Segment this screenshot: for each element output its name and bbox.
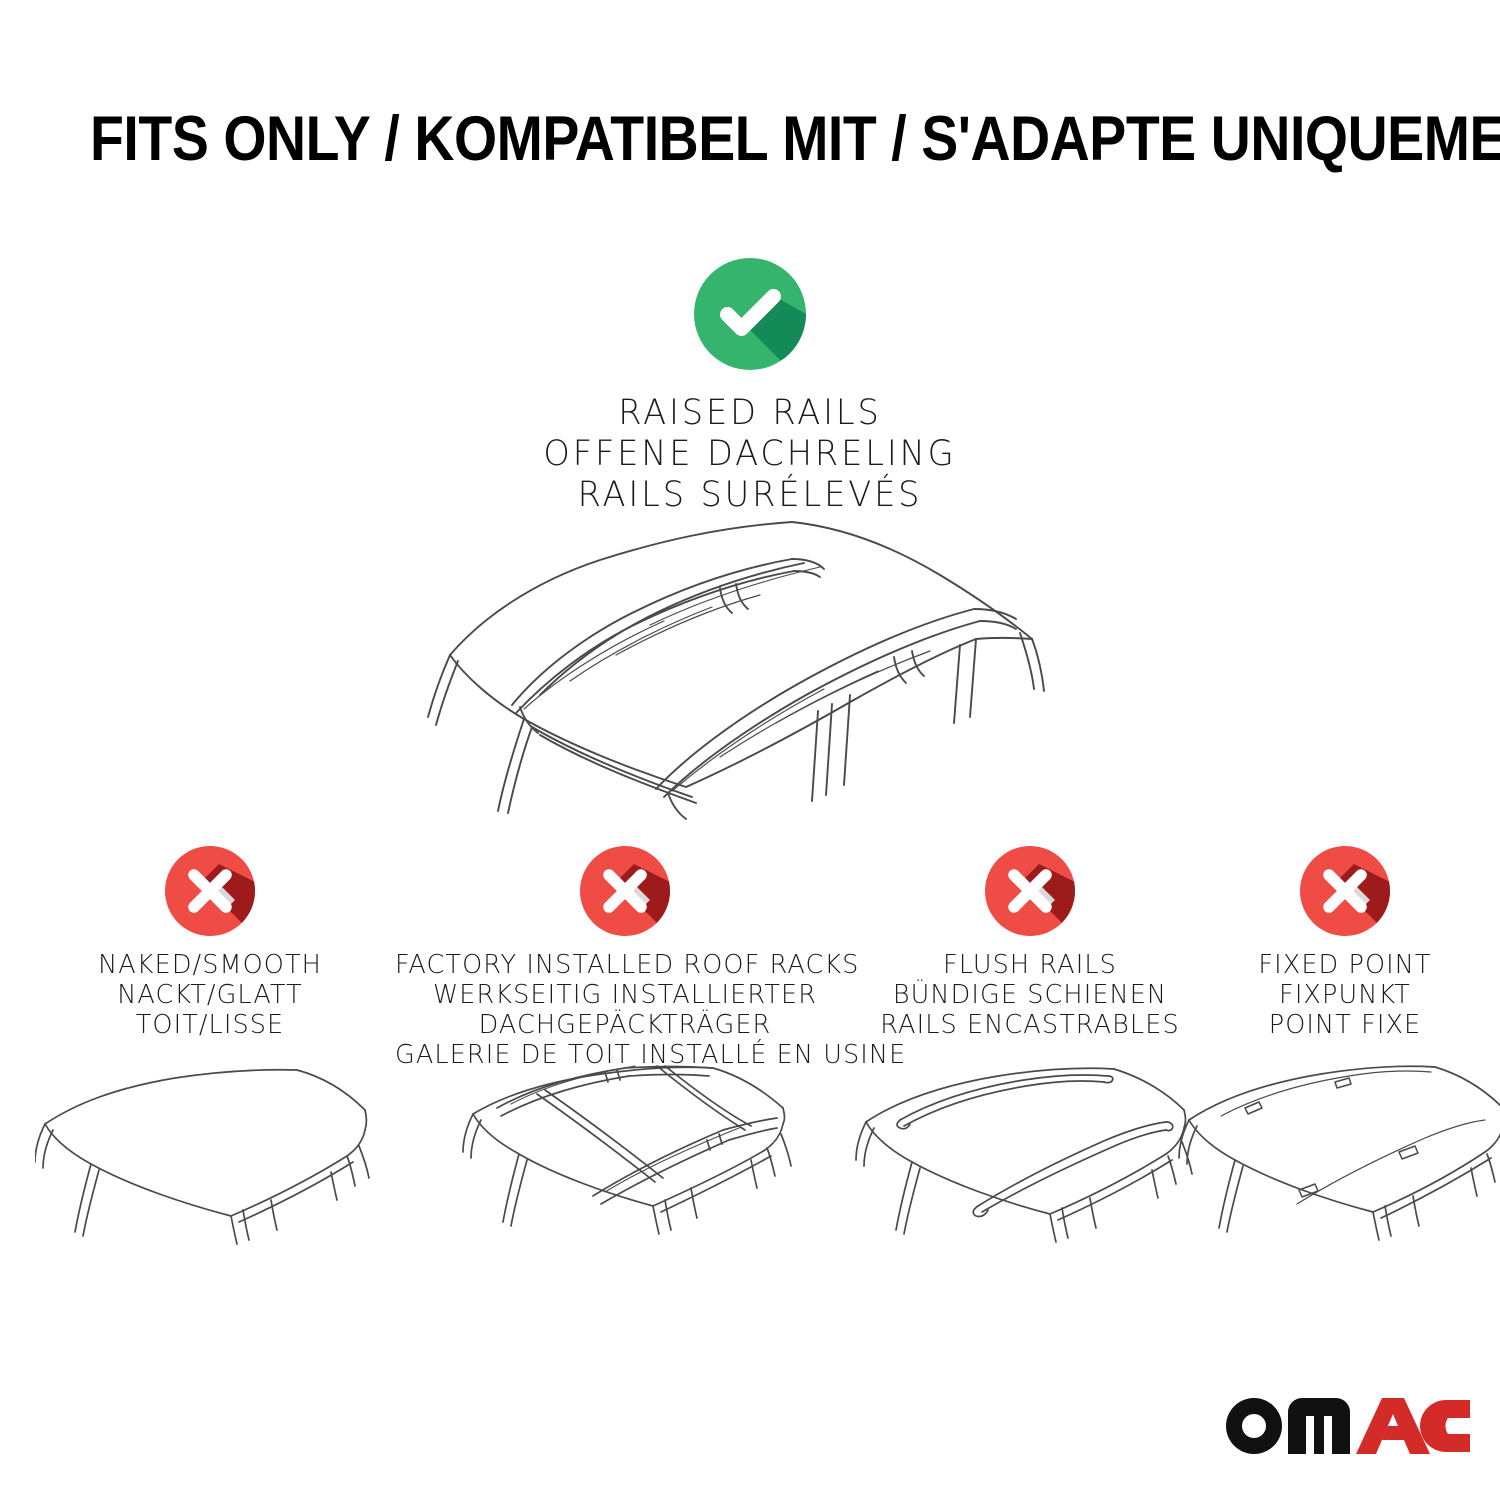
compatible-label-line-2: OFFENE DACHRELING [30, 434, 1470, 475]
incompatible-label-flush-rails: FLUSH RAILS BÜNDIGE SCHIENEN RAILS ENCAS… [845, 950, 1215, 1040]
car-roof-fixed-point-sketch [1177, 1064, 1500, 1264]
label-line-2: NACKT/GLATT [10, 980, 410, 1010]
omac-logo [1218, 1388, 1470, 1464]
label-line-2: FIXPUNKT [1205, 980, 1485, 1010]
fitment-infographic: FITS ONLY / KOMPATIBEL MIT / S'ADAPTE UN… [0, 0, 1500, 1500]
label-line-3: RAILS ENCASTRABLES [845, 1010, 1215, 1040]
incompatible-label-fixed-point: FIXED POINT FIXPUNKT POINT FIXE [1205, 950, 1485, 1040]
logo-letter-m [1288, 1398, 1350, 1454]
incompatible-row: NAKED/SMOOTH NACKT/GLATT TOIT/LISSE [0, 846, 1500, 1266]
incompatible-item-factory-roof-racks: FACTORY INSTALLED ROOF RACKS WERKSEITIG … [395, 846, 855, 1070]
check-circle-icon [694, 258, 806, 370]
label-line-1: FACTORY INSTALLED ROOF RACKS [395, 950, 855, 980]
x-circle-icon [985, 846, 1075, 936]
logo-letter-c [1420, 1400, 1470, 1452]
label-line-1: NAKED/SMOOTH [10, 950, 410, 980]
compatible-label-line-1: RAISED RAILS [30, 393, 1470, 434]
incompatible-item-naked-smooth: NAKED/SMOOTH NACKT/GLATT TOIT/LISSE [10, 846, 410, 1040]
compatible-section: RAISED RAILS OFFENE DACHRELING RAILS SUR… [0, 258, 1500, 516]
incompatible-item-flush-rails: FLUSH RAILS BÜNDIGE SCHIENEN RAILS ENCAS… [845, 846, 1215, 1040]
incompatible-label-naked-smooth: NAKED/SMOOTH NACKT/GLATT TOIT/LISSE [10, 950, 410, 1040]
car-roof-raised-rails-sketch [420, 505, 1080, 835]
compatible-label: RAISED RAILS OFFENE DACHRELING RAILS SUR… [30, 393, 1470, 516]
car-roof-flush-rails-sketch [852, 1064, 1208, 1264]
incompatible-item-fixed-point: FIXED POINT FIXPUNKT POINT FIXE [1205, 846, 1485, 1040]
label-line-3: DACHGEPÄCKTRÄGER [395, 1010, 855, 1040]
label-line-1: FLUSH RAILS [845, 950, 1215, 980]
x-circle-icon [165, 846, 255, 936]
x-circle-icon [580, 846, 670, 936]
label-line-3: POINT FIXE [1205, 1010, 1485, 1040]
label-line-1: FIXED POINT [1205, 950, 1485, 980]
label-line-2: WERKSEITIG INSTALLIERTER [395, 980, 855, 1010]
logo-letter-a [1356, 1398, 1430, 1454]
x-circle-icon [1300, 846, 1390, 936]
page-title: FITS ONLY / KOMPATIBEL MIT / S'ADAPTE UN… [90, 104, 1410, 174]
car-roof-factory-roof-racks-sketch [445, 1064, 805, 1264]
incompatible-label-factory-roof-racks: FACTORY INSTALLED ROOF RACKS WERKSEITIG … [395, 950, 855, 1070]
logo-letter-o [1226, 1398, 1282, 1454]
label-line-2: BÜNDIGE SCHIENEN [845, 980, 1215, 1010]
label-line-3: TOIT/LISSE [10, 1010, 410, 1040]
car-roof-naked-smooth-sketch [35, 1064, 385, 1264]
